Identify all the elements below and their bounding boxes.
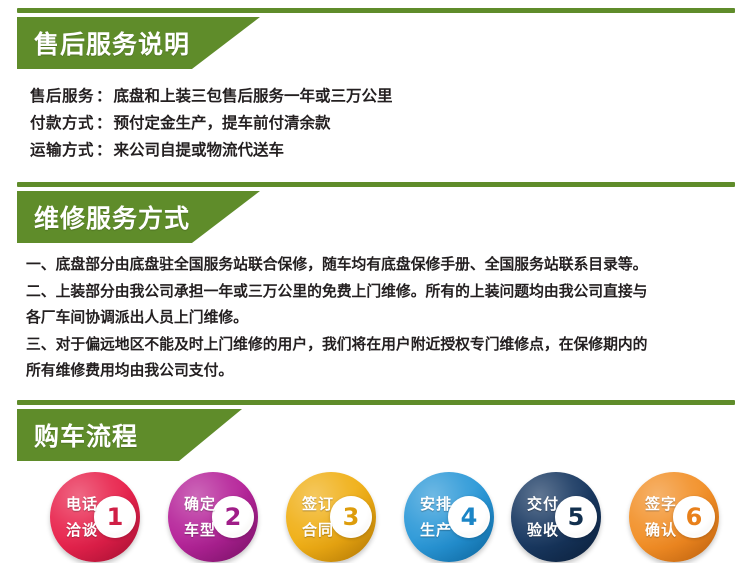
flow-step-1-label-line2: 洽谈 [60, 517, 104, 543]
flow-step-5-label-line1: 交付 [521, 491, 565, 517]
flow-step-5-label-line2: 验收 [521, 517, 565, 543]
flow-step-4[interactable]: 安排 生产 4 [404, 472, 494, 562]
section-banner-after-sales: 售后服务说明 [17, 17, 260, 69]
payment-separator: ： [94, 114, 114, 132]
after-sales-line: 付款方式：预付定金生产，提车前付清余款 [30, 110, 393, 137]
after-sales-label: 售后服务 [30, 87, 94, 105]
flow-step-4-label-line1: 安排 [414, 491, 458, 517]
section-rule-after-sales [17, 8, 735, 13]
maintenance-body: 一、底盘部分由底盘驻全国服务站联合保修，随车均有底盘保修手册、全国服务站联系目录… [26, 252, 647, 385]
flow-step-4-label-line2: 生产 [414, 517, 458, 543]
flow-step-6[interactable]: 签字 确认 6 [629, 472, 719, 562]
flow-step-4-label: 安排 生产 [414, 491, 458, 543]
flow-step-1-label-line1: 电话 [60, 491, 104, 517]
after-sales-value: 底盘和上装三包售后服务一年或三万公里 [114, 87, 393, 105]
section-rule-purchase-flow [17, 400, 735, 405]
section-banner-maintenance: 维修服务方式 [17, 191, 260, 243]
flow-step-1-label: 电话 洽谈 [60, 491, 104, 543]
purchase-flow-steps: 电话 洽谈 1 确定 车型 2 签订 合同 3 安排 生产 [0, 470, 750, 563]
flow-step-2[interactable]: 确定 车型 2 [168, 472, 258, 562]
section-banner-purchase-flow: 购车流程 [17, 409, 242, 461]
shipping-label: 运输方式 [30, 141, 94, 159]
after-sales-separator: ： [94, 87, 114, 105]
section-title-purchase-flow: 购车流程 [34, 417, 138, 453]
flow-step-3-label-line1: 签订 [296, 491, 340, 517]
maintenance-line: 三、对于偏远地区不能及时上门维修的用户，我们将在用户附近授权专门维修点，在保修期… [26, 332, 647, 359]
flow-step-6-label-line2: 确认 [639, 517, 683, 543]
flow-step-3-label-line2: 合同 [296, 517, 340, 543]
section-rule-maintenance [17, 182, 735, 187]
flow-step-2-label: 确定 车型 [178, 491, 222, 543]
flow-step-5[interactable]: 交付 验收 5 [511, 472, 601, 562]
payment-value: 预付定金生产，提车前付清余款 [114, 114, 331, 132]
flow-step-6-label-line1: 签字 [639, 491, 683, 517]
flow-step-3-label: 签订 合同 [296, 491, 340, 543]
maintenance-line: 所有维修费用均由我公司支付。 [26, 358, 647, 385]
flow-step-2-label-line1: 确定 [178, 491, 222, 517]
marketing-page: 售后服务说明 售后服务：底盘和上装三包售后服务一年或三万公里 付款方式：预付定金… [0, 0, 750, 563]
shipping-separator: ： [94, 141, 114, 159]
flow-step-3[interactable]: 签订 合同 3 [286, 472, 376, 562]
maintenance-line: 二、上装部分由我公司承担一年或三万公里的免费上门维修。所有的上装问题均由我公司直… [26, 279, 647, 306]
flow-step-1[interactable]: 电话 洽谈 1 [50, 472, 140, 562]
flow-step-5-label: 交付 验收 [521, 491, 565, 543]
after-sales-line: 运输方式：来公司自提或物流代送车 [30, 137, 393, 164]
section-title-maintenance: 维修服务方式 [34, 199, 190, 235]
shipping-value: 来公司自提或物流代送车 [114, 141, 285, 159]
flow-step-2-label-line2: 车型 [178, 517, 222, 543]
maintenance-line: 各厂车间协调派出人员上门维修。 [26, 305, 647, 332]
payment-label: 付款方式 [30, 114, 94, 132]
section-title-after-sales: 售后服务说明 [34, 25, 190, 61]
after-sales-body: 售后服务：底盘和上装三包售后服务一年或三万公里 付款方式：预付定金生产，提车前付… [30, 83, 393, 164]
after-sales-line: 售后服务：底盘和上装三包售后服务一年或三万公里 [30, 83, 393, 110]
maintenance-line: 一、底盘部分由底盘驻全国服务站联合保修，随车均有底盘保修手册、全国服务站联系目录… [26, 252, 647, 279]
flow-step-6-label: 签字 确认 [639, 491, 683, 543]
